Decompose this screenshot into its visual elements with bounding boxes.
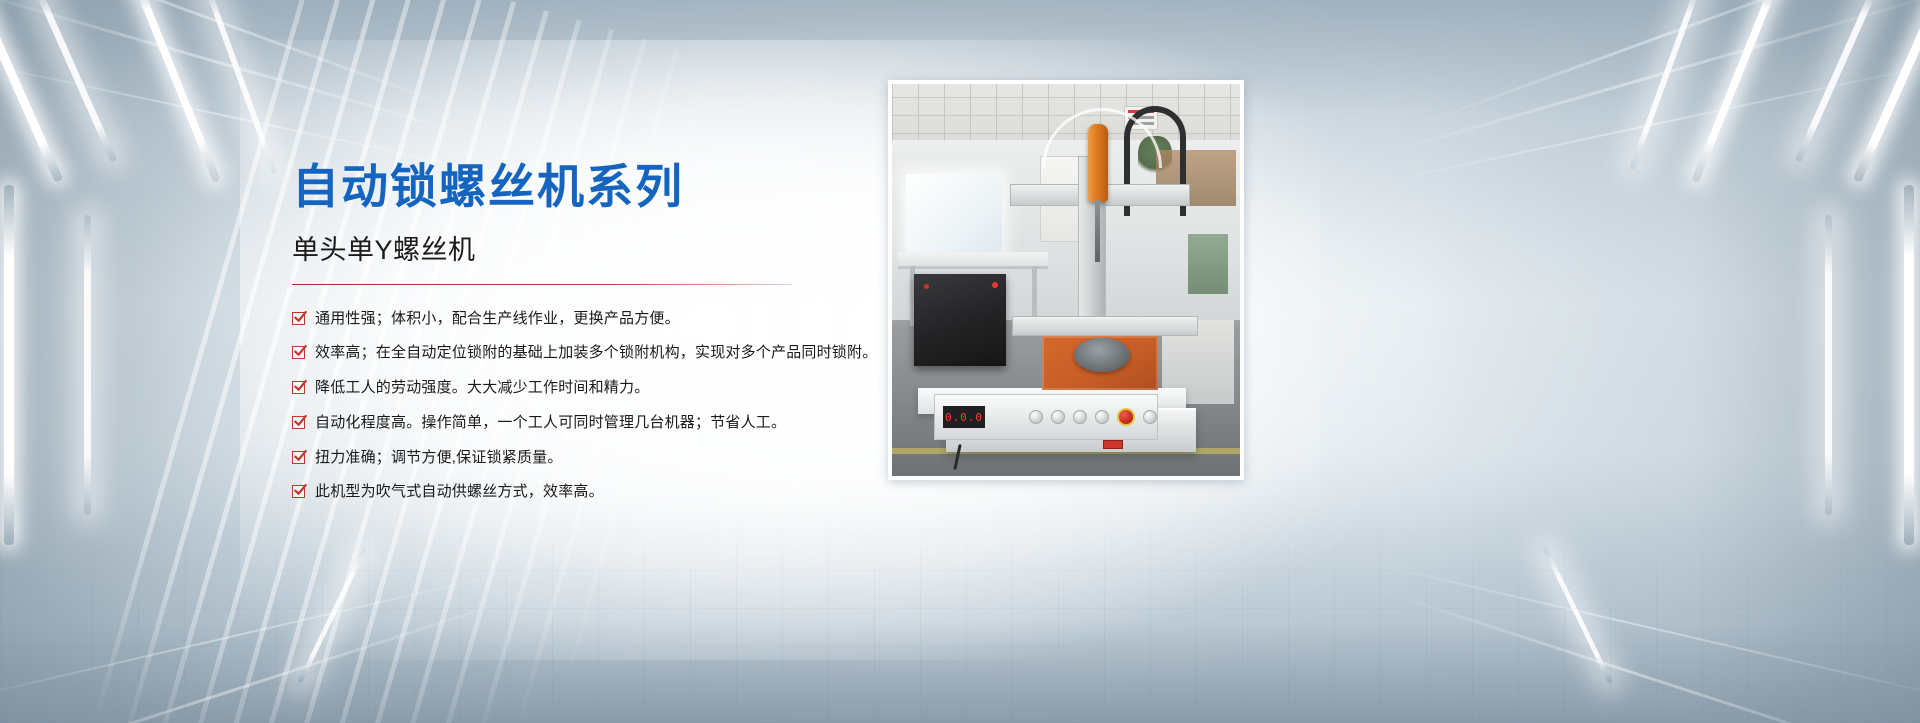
control-panel[interactable]: 0.0.0 [934,394,1158,440]
title-divider [292,284,792,285]
page-title: 自动锁螺丝机系列 [292,160,892,214]
feature-text: 扭力准确；调节方便,保证锁紧质量。 [315,447,563,469]
check-icon [292,312,305,325]
feeder-led [992,282,998,288]
feature-text: 效率高；在全自动定位锁附的基础上加装多个锁附机构，实现对多个产品同时锁附。 [315,342,877,364]
feature-list: 通用性强；体积小，配合生产线作业，更换产品方便。 效率高；在全自动定位锁附的基础… [292,308,892,504]
list-item: 效率高；在全自动定位锁附的基础上加装多个锁附机构，实现对多个产品同时锁附。 [292,342,892,364]
page-subtitle: 单头单Y螺丝机 [292,228,892,267]
check-icon [292,416,305,429]
screw-feeder [914,274,1006,366]
list-item: 降低工人的劳动强度。大大减少工作时间和精力。 [292,377,892,399]
list-item: 此机型为吹气式自动供螺丝方式，效率高。 [292,481,892,503]
workshop-window [906,174,1002,254]
panel-buttons[interactable] [1029,408,1157,426]
panel-button[interactable] [1143,410,1157,424]
screwdriver-bit [1095,200,1100,262]
panel-button[interactable] [1073,410,1087,424]
feature-text: 此机型为吹气式自动供螺丝方式，效率高。 [315,481,604,503]
emergency-stop-button[interactable] [1117,408,1135,426]
list-item: 扭力准确；调节方便,保证锁紧质量。 [292,447,892,469]
panel-button[interactable] [1095,410,1109,424]
list-item: 自动化程度高。操作简单，一个工人可同时管理几台机器；节省人工。 [292,412,892,434]
feature-text: 降低工人的劳动强度。大大减少工作时间和精力。 [315,377,649,399]
product-banner: 自动锁螺丝机系列 单头单Y螺丝机 通用性强；体积小，配合生产线作业，更换产品方便… [0,0,1920,723]
product-photo-image: 0.0.0 [892,84,1240,476]
check-icon [292,346,305,359]
panel-button[interactable] [1051,410,1065,424]
digital-display: 0.0.0 [943,406,985,428]
display-value: 0.0.0 [945,411,983,424]
screwdriver-head [1088,124,1108,202]
check-icon [292,381,305,394]
power-switch[interactable] [1103,440,1123,449]
check-icon [292,451,305,464]
product-photo: 0.0.0 [888,80,1244,480]
feeder-led [924,284,929,289]
workpiece-disc [1074,338,1130,372]
feature-text: 通用性强；体积小，配合生产线作业，更换产品方便。 [315,308,680,330]
panel-button[interactable] [1029,410,1043,424]
workbench [898,252,1048,266]
check-icon [292,485,305,498]
bin [1188,234,1228,294]
list-item: 通用性强；体积小，配合生产线作业，更换产品方便。 [292,308,892,330]
machine-rail [1012,316,1198,336]
banner-text-column: 自动锁螺丝机系列 单头单Y螺丝机 通用性强；体积小，配合生产线作业，更换产品方便… [292,160,892,516]
feature-text: 自动化程度高。操作简单，一个工人可同时管理几台机器；节省人工。 [315,412,786,434]
